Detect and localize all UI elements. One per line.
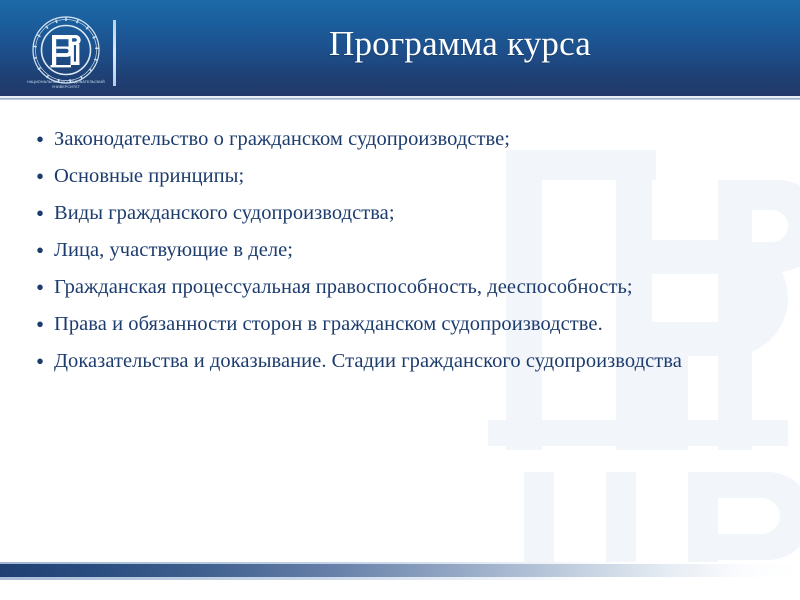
list-item-text: Гражданская процессуальная правоспособно…	[54, 272, 730, 303]
slide-title: Программа курса	[140, 22, 780, 66]
list-item-text: Основные принципы;	[54, 161, 730, 192]
list-item-text: Доказательства и доказывание. Стадии гра…	[54, 346, 730, 377]
list-item: • Гражданская процессуальная правоспособ…	[30, 272, 730, 304]
footer-accent-bar	[0, 562, 800, 580]
bullet-marker-icon: •	[30, 272, 54, 304]
footer-accent-bar-highlight-bottom	[0, 577, 800, 580]
logo-caption: НАЦИОНАЛЬНЫЙ ИССЛЕДОВАТЕЛЬСКИЙ УНИВЕРСИТ…	[14, 80, 118, 90]
footer-accent-bar-fill	[0, 564, 800, 577]
list-item-text: Законодательство о гражданском судопроиз…	[54, 124, 730, 155]
bullet-marker-icon: •	[30, 346, 54, 378]
list-item: • Доказательства и доказывание. Стадии г…	[30, 346, 730, 378]
list-item: • Лица, участвующие в деле;	[30, 235, 730, 267]
bullet-marker-icon: •	[30, 124, 54, 156]
header-vertical-divider	[113, 20, 116, 86]
bullet-list: • Законодательство о гражданском судопро…	[30, 124, 730, 383]
list-item-text: Виды гражданского судопроизводства;	[54, 198, 730, 229]
bullet-marker-icon: •	[30, 198, 54, 230]
presentation-slide: НАЦИОНАЛЬНЫЙ ИССЛЕДОВАТЕЛЬСКИЙ УНИВЕРСИТ…	[0, 0, 800, 600]
list-item-text: Лица, участвующие в деле;	[54, 235, 730, 266]
list-item-text: Права и обязанности сторон в гражданском…	[54, 309, 730, 340]
list-item: • Виды гражданского судопроизводства;	[30, 198, 730, 230]
list-item: • Законодательство о гражданском судопро…	[30, 124, 730, 156]
list-item: • Права и обязанности сторон в гражданск…	[30, 309, 730, 341]
bullet-marker-icon: •	[30, 235, 54, 267]
header-underline-white	[0, 100, 800, 102]
bullet-marker-icon: •	[30, 161, 54, 193]
bullet-marker-icon: •	[30, 309, 54, 341]
list-item: • Основные принципы;	[30, 161, 730, 193]
